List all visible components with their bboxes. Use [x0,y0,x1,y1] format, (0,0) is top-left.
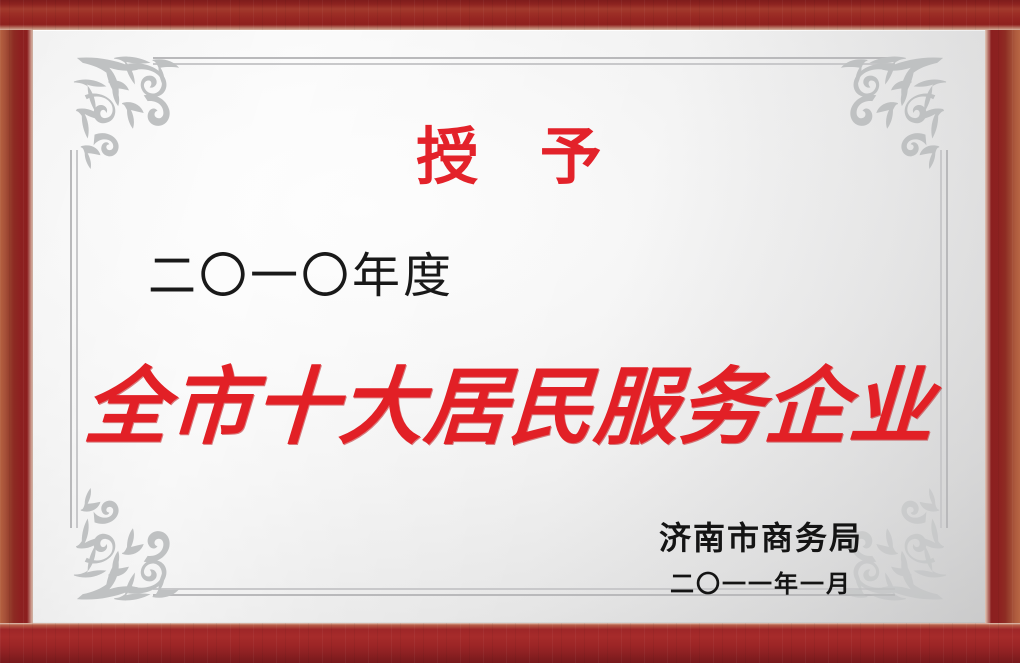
certificate-plate: 授 予 二〇一〇年度 全市十大居民服务企业 济南市商务局 二〇一一年一月 [33,30,985,623]
issuer-block: 济南市商务局 二〇一一年一月 [659,522,863,596]
issuer-name-text: 济南市商务局 [659,522,863,554]
issuer-date-text: 二〇一一年一月 [659,572,863,596]
frame-left-stile [0,0,33,663]
award-year-text: 二〇一〇年度 [148,252,454,300]
frame-top-rail [0,0,1020,30]
frame-right-stile [985,0,1020,663]
award-verb-text: 授 予 [33,126,985,188]
frame-bottom-rail [0,623,1020,663]
award-title-text: 全市十大居民服务企业 [33,360,985,454]
award-plaque: 授 予 二〇一〇年度 全市十大居民服务企业 济南市商务局 二〇一一年一月 [0,0,1020,663]
certificate-content: 授 予 二〇一〇年度 全市十大居民服务企业 济南市商务局 二〇一一年一月 [33,30,985,623]
